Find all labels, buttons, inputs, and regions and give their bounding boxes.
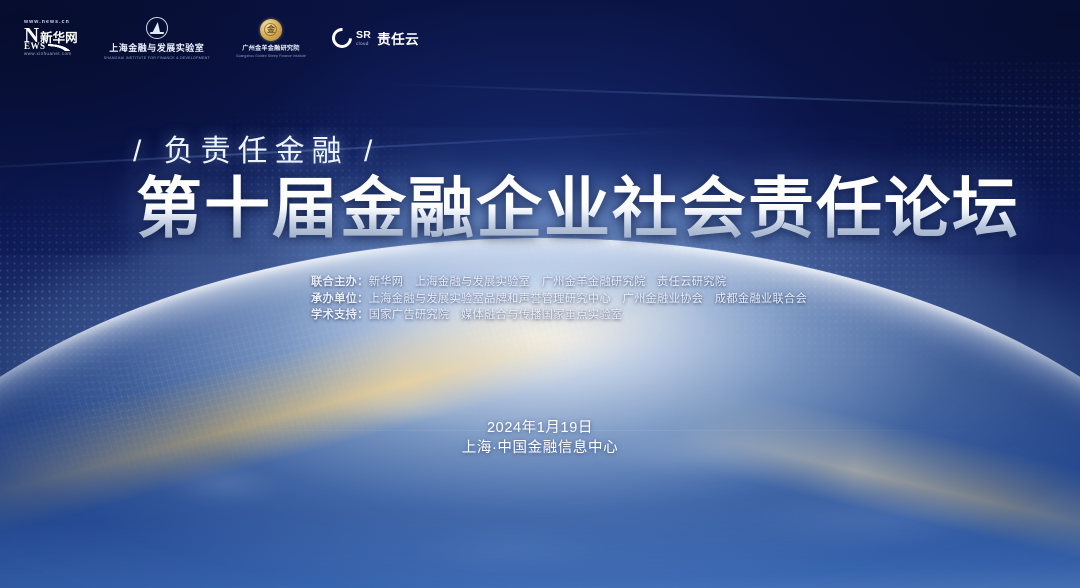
guangzhou-institute-en-name: Guangzhou Golden Sheep Finance Institute bbox=[236, 54, 306, 58]
organizer-value: 上海金融与发展实验室品牌和声誉管理研究中心 广州金融业协会 成都金融业联合会 bbox=[369, 293, 807, 305]
sr-text: SR bbox=[356, 30, 371, 41]
sail-shape-icon bbox=[152, 22, 162, 33]
logo-xinhuanet[interactable]: www.news.cn N 新华网 EWS www.xinhuanet.com bbox=[24, 20, 78, 56]
guangzhou-institute-cn-name: 广州金羊金融研究院 bbox=[242, 43, 300, 52]
sr-cloud-cn-name: 责任云 bbox=[377, 28, 419, 48]
organizer-label: 学术支持： bbox=[311, 309, 369, 321]
xinhuanet-news-text: EWS bbox=[24, 42, 46, 51]
event-venue: 上海·中国金融信息中心 bbox=[0, 438, 1080, 459]
sponsor-logo-bar: www.news.cn N 新华网 EWS www.xinhuanet.com … bbox=[24, 14, 419, 62]
cloud-text: cloud bbox=[356, 42, 371, 46]
organizer-row: 联合主办：新华网 上海金融与发展实验室 广州金羊金融研究院 责任云研究院 bbox=[311, 274, 807, 291]
forum-poster: www.news.cn N 新华网 EWS www.xinhuanet.com … bbox=[0, 0, 1080, 588]
event-details: 2024年1月19日 上海·中国金融信息中心 bbox=[0, 418, 1080, 459]
logo-guangzhou-finance-institute[interactable]: 金 广州金羊金融研究院 Guangzhou Golden Sheep Finan… bbox=[236, 19, 306, 58]
gold-medallion-icon: 金 bbox=[260, 19, 282, 41]
organizer-row: 学术支持：国家广告研究院 媒体融合与传播国家重点实验室 bbox=[311, 307, 807, 324]
organizer-value: 新华网 上海金融与发展实验室 广州金羊金融研究院 责任云研究院 bbox=[369, 276, 727, 288]
xinhuanet-url-bottom: www.xinhuanet.com bbox=[24, 52, 72, 56]
sail-emblem-icon bbox=[146, 17, 168, 39]
logo-sr-cloud[interactable]: SR cloud 责任云 bbox=[332, 28, 419, 48]
swoosh-icon bbox=[48, 42, 78, 51]
shanghai-lab-cn-name: 上海金融与发展实验室 bbox=[109, 41, 204, 54]
organizer-label: 联合主办： bbox=[311, 276, 369, 288]
event-date: 2024年1月19日 bbox=[0, 418, 1080, 438]
medallion-inner-icon: 金 bbox=[264, 23, 277, 36]
logo-shanghai-finance-lab[interactable]: 上海金融与发展实验室 SHANGHAI INSTITUTE FOR FINANC… bbox=[104, 17, 210, 60]
organizer-block: 联合主办：新华网 上海金融与发展实验室 广州金羊金融研究院 责任云研究院 承办单… bbox=[311, 274, 807, 324]
organizer-value: 国家广告研究院 媒体融合与传播国家重点实验室 bbox=[369, 309, 623, 321]
shanghai-lab-en-name: SHANGHAI INSTITUTE FOR FINANCE & DEVELOP… bbox=[104, 56, 210, 60]
poster-subtitle: / 负责任金融 / bbox=[133, 126, 379, 170]
organizer-row: 承办单位：上海金融与发展实验室品牌和声誉管理研究中心 广州金融业协会 成都金融业… bbox=[311, 291, 807, 308]
c-ring-icon bbox=[328, 24, 356, 52]
organizer-label: 承办单位： bbox=[311, 293, 369, 305]
poster-title: 第十届金融企业社会责任论坛 bbox=[136, 172, 1020, 246]
